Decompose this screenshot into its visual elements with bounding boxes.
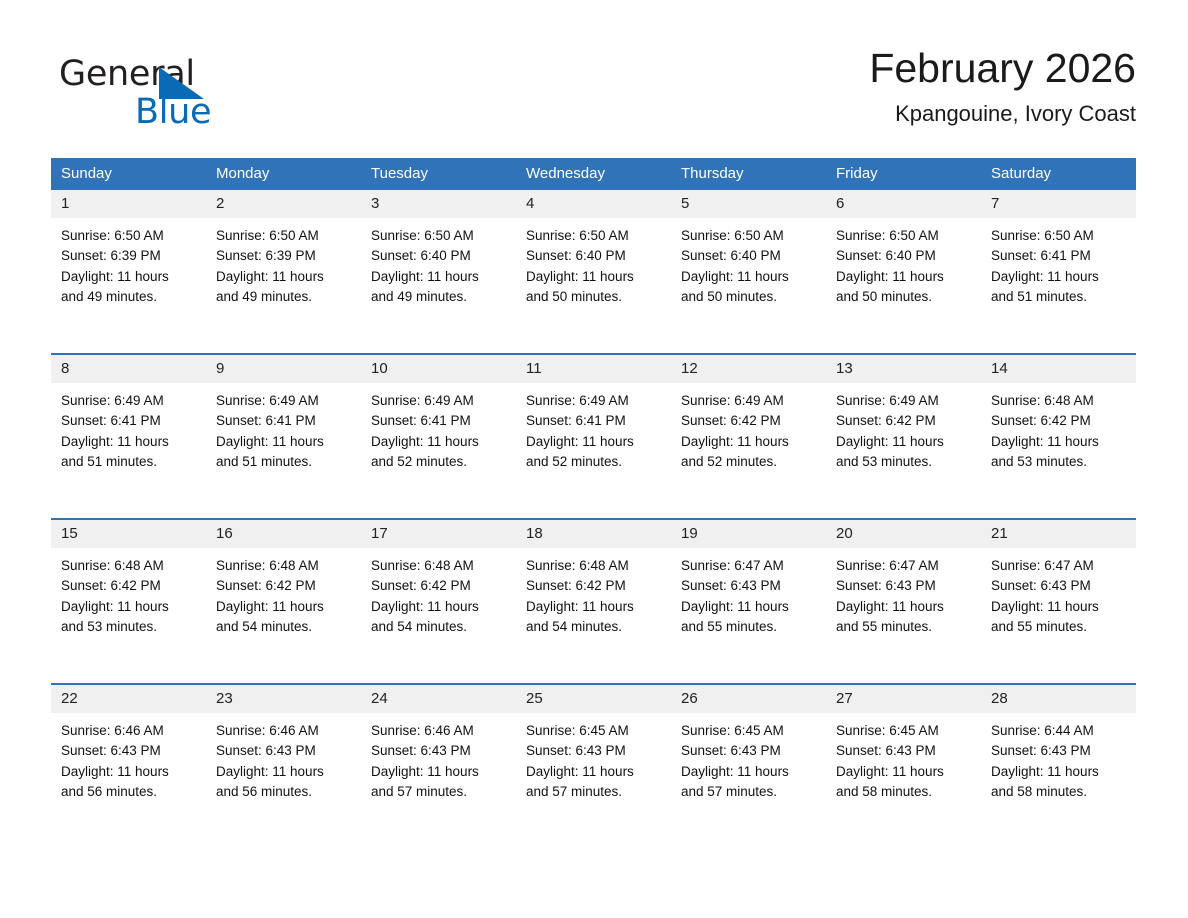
calendar-week-2: 8 9 10 11 12 13 14 Sunrise: 6:49 AM Suns…	[51, 354, 1136, 519]
daylight-text-line1: Daylight: 11 hours	[216, 267, 349, 287]
day-cell[interactable]: Sunrise: 6:49 AM Sunset: 6:42 PM Dayligh…	[671, 383, 826, 519]
daylight-text-line2: and 51 minutes.	[991, 287, 1124, 307]
sunrise-text: Sunrise: 6:50 AM	[371, 226, 504, 246]
daylight-text-line2: and 58 minutes.	[991, 782, 1124, 802]
day-number[interactable]: 17	[361, 519, 516, 548]
daylight-text-line1: Daylight: 11 hours	[371, 762, 504, 782]
sunset-text: Sunset: 6:42 PM	[991, 411, 1124, 431]
daylight-text-line1: Daylight: 11 hours	[991, 267, 1124, 287]
daylight-text-line2: and 49 minutes.	[371, 287, 504, 307]
sunset-text: Sunset: 6:43 PM	[681, 741, 814, 761]
page-header: General Blue February 2026 Kpangouine, I…	[51, 42, 1136, 146]
daylight-text-line2: and 57 minutes.	[371, 782, 504, 802]
daylight-text-line1: Daylight: 11 hours	[371, 432, 504, 452]
sunrise-text: Sunrise: 6:47 AM	[991, 556, 1124, 576]
day-number[interactable]: 8	[51, 354, 206, 383]
daylight-text-line2: and 57 minutes.	[526, 782, 659, 802]
day-number[interactable]: 24	[361, 684, 516, 713]
weekday-header-sunday: Sunday	[51, 158, 206, 190]
daylight-text-line2: and 54 minutes.	[526, 617, 659, 637]
sunset-text: Sunset: 6:42 PM	[216, 576, 349, 596]
daylight-text-line2: and 55 minutes.	[681, 617, 814, 637]
sunset-text: Sunset: 6:43 PM	[61, 741, 194, 761]
sunset-text: Sunset: 6:41 PM	[991, 246, 1124, 266]
sunset-text: Sunset: 6:39 PM	[61, 246, 194, 266]
daylight-text-line1: Daylight: 11 hours	[216, 762, 349, 782]
day-cell[interactable]: Sunrise: 6:50 AM Sunset: 6:39 PM Dayligh…	[206, 218, 361, 354]
sunset-text: Sunset: 6:43 PM	[836, 741, 969, 761]
day-number[interactable]: 23	[206, 684, 361, 713]
calendar-header-row: Sunday Monday Tuesday Wednesday Thursday…	[51, 158, 1136, 190]
day-cell[interactable]: Sunrise: 6:50 AM Sunset: 6:40 PM Dayligh…	[361, 218, 516, 354]
sunset-text: Sunset: 6:43 PM	[991, 741, 1124, 761]
daylight-text-line2: and 54 minutes.	[216, 617, 349, 637]
day-cell[interactable]: Sunrise: 6:49 AM Sunset: 6:41 PM Dayligh…	[361, 383, 516, 519]
daylight-text-line2: and 50 minutes.	[836, 287, 969, 307]
day-number[interactable]: 14	[981, 354, 1136, 383]
day-cell[interactable]: Sunrise: 6:49 AM Sunset: 6:41 PM Dayligh…	[51, 383, 206, 519]
day-cell[interactable]: Sunrise: 6:48 AM Sunset: 6:42 PM Dayligh…	[516, 548, 671, 684]
daylight-text-line2: and 55 minutes.	[991, 617, 1124, 637]
sunset-text: Sunset: 6:42 PM	[681, 411, 814, 431]
sunset-text: Sunset: 6:41 PM	[371, 411, 504, 431]
day-cell[interactable]: Sunrise: 6:46 AM Sunset: 6:43 PM Dayligh…	[206, 713, 361, 848]
day-cell[interactable]: Sunrise: 6:49 AM Sunset: 6:42 PM Dayligh…	[826, 383, 981, 519]
calendar-week-3: 15 16 17 18 19 20 21 Sunrise: 6:48 AM Su…	[51, 519, 1136, 684]
day-number[interactable]: 2	[206, 190, 361, 218]
daylight-text-line2: and 52 minutes.	[526, 452, 659, 472]
day-cell[interactable]: Sunrise: 6:45 AM Sunset: 6:43 PM Dayligh…	[826, 713, 981, 848]
daylight-text-line2: and 50 minutes.	[526, 287, 659, 307]
sunset-text: Sunset: 6:43 PM	[526, 741, 659, 761]
sunrise-text: Sunrise: 6:48 AM	[526, 556, 659, 576]
day-number[interactable]: 21	[981, 519, 1136, 548]
sunrise-text: Sunrise: 6:45 AM	[681, 721, 814, 741]
day-number[interactable]: 4	[516, 190, 671, 218]
daylight-text-line1: Daylight: 11 hours	[371, 267, 504, 287]
day-number[interactable]: 16	[206, 519, 361, 548]
daylight-text-line1: Daylight: 11 hours	[836, 432, 969, 452]
daylight-text-line2: and 58 minutes.	[836, 782, 969, 802]
daylight-text-line1: Daylight: 11 hours	[836, 597, 969, 617]
daylight-text-line1: Daylight: 11 hours	[61, 762, 194, 782]
day-number[interactable]: 1	[51, 190, 206, 218]
day-cell[interactable]: Sunrise: 6:47 AM Sunset: 6:43 PM Dayligh…	[826, 548, 981, 684]
sunrise-text: Sunrise: 6:47 AM	[836, 556, 969, 576]
sunrise-text: Sunrise: 6:49 AM	[836, 391, 969, 411]
page-title: February 2026	[869, 42, 1136, 94]
weekday-header-friday: Friday	[826, 158, 981, 190]
sunrise-text: Sunrise: 6:50 AM	[526, 226, 659, 246]
daylight-text-line2: and 51 minutes.	[216, 452, 349, 472]
sunset-text: Sunset: 6:41 PM	[216, 411, 349, 431]
day-number[interactable]: 19	[671, 519, 826, 548]
week-4-daynumbers: 22 23 24 25 26 27 28	[51, 684, 1136, 713]
sunrise-text: Sunrise: 6:48 AM	[371, 556, 504, 576]
day-cell[interactable]: Sunrise: 6:47 AM Sunset: 6:43 PM Dayligh…	[671, 548, 826, 684]
daylight-text-line1: Daylight: 11 hours	[61, 432, 194, 452]
sunrise-text: Sunrise: 6:45 AM	[836, 721, 969, 741]
daylight-text-line1: Daylight: 11 hours	[991, 432, 1124, 452]
calendar-week-1: 1 2 3 4 5 6 7 Sunrise: 6:50 AM Sunset: 6…	[51, 190, 1136, 354]
daylight-text-line1: Daylight: 11 hours	[991, 762, 1124, 782]
general-blue-logo[interactable]: General Blue	[59, 54, 319, 140]
daylight-text-line1: Daylight: 11 hours	[61, 267, 194, 287]
sunrise-text: Sunrise: 6:49 AM	[371, 391, 504, 411]
day-number[interactable]: 25	[516, 684, 671, 713]
daylight-text-line1: Daylight: 11 hours	[681, 762, 814, 782]
day-cell[interactable]: Sunrise: 6:46 AM Sunset: 6:43 PM Dayligh…	[51, 713, 206, 848]
sunrise-text: Sunrise: 6:48 AM	[991, 391, 1124, 411]
day-cell[interactable]: Sunrise: 6:50 AM Sunset: 6:40 PM Dayligh…	[671, 218, 826, 354]
day-cell[interactable]: Sunrise: 6:50 AM Sunset: 6:41 PM Dayligh…	[981, 218, 1136, 354]
day-number[interactable]: 20	[826, 519, 981, 548]
sunset-text: Sunset: 6:39 PM	[216, 246, 349, 266]
day-number[interactable]: 18	[516, 519, 671, 548]
calendar-table: Sunday Monday Tuesday Wednesday Thursday…	[51, 158, 1136, 848]
daylight-text-line2: and 56 minutes.	[61, 782, 194, 802]
daylight-text-line1: Daylight: 11 hours	[526, 432, 659, 452]
sunrise-text: Sunrise: 6:48 AM	[216, 556, 349, 576]
daylight-text-line1: Daylight: 11 hours	[836, 762, 969, 782]
week-3-details: Sunrise: 6:48 AM Sunset: 6:42 PM Dayligh…	[51, 548, 1136, 684]
day-number[interactable]: 7	[981, 190, 1136, 218]
sunrise-text: Sunrise: 6:49 AM	[526, 391, 659, 411]
daylight-text-line2: and 55 minutes.	[836, 617, 969, 637]
sunset-text: Sunset: 6:42 PM	[371, 576, 504, 596]
daylight-text-line2: and 51 minutes.	[61, 452, 194, 472]
day-cell[interactable]: Sunrise: 6:45 AM Sunset: 6:43 PM Dayligh…	[516, 713, 671, 848]
daylight-text-line2: and 53 minutes.	[836, 452, 969, 472]
title-block: February 2026 Kpangouine, Ivory Coast	[869, 42, 1136, 128]
logo-text-blue: Blue	[135, 92, 211, 132]
daylight-text-line2: and 53 minutes.	[61, 617, 194, 637]
sunrise-text: Sunrise: 6:50 AM	[681, 226, 814, 246]
day-cell[interactable]: Sunrise: 6:48 AM Sunset: 6:42 PM Dayligh…	[361, 548, 516, 684]
daylight-text-line2: and 52 minutes.	[681, 452, 814, 472]
sunrise-text: Sunrise: 6:45 AM	[526, 721, 659, 741]
daylight-text-line1: Daylight: 11 hours	[216, 432, 349, 452]
week-3-daynumbers: 15 16 17 18 19 20 21	[51, 519, 1136, 548]
week-1-details: Sunrise: 6:50 AM Sunset: 6:39 PM Dayligh…	[51, 218, 1136, 354]
daylight-text-line1: Daylight: 11 hours	[526, 597, 659, 617]
daylight-text-line1: Daylight: 11 hours	[836, 267, 969, 287]
daylight-text-line2: and 52 minutes.	[371, 452, 504, 472]
daylight-text-line1: Daylight: 11 hours	[681, 597, 814, 617]
sunrise-text: Sunrise: 6:46 AM	[61, 721, 194, 741]
sunrise-text: Sunrise: 6:50 AM	[61, 226, 194, 246]
day-cell[interactable]: Sunrise: 6:49 AM Sunset: 6:41 PM Dayligh…	[516, 383, 671, 519]
day-cell[interactable]: Sunrise: 6:47 AM Sunset: 6:43 PM Dayligh…	[981, 548, 1136, 684]
day-number[interactable]: 12	[671, 354, 826, 383]
daylight-text-line2: and 56 minutes.	[216, 782, 349, 802]
daylight-text-line2: and 54 minutes.	[371, 617, 504, 637]
daylight-text-line1: Daylight: 11 hours	[371, 597, 504, 617]
sunrise-text: Sunrise: 6:50 AM	[836, 226, 969, 246]
day-number[interactable]: 27	[826, 684, 981, 713]
daylight-text-line2: and 53 minutes.	[991, 452, 1124, 472]
day-cell[interactable]: Sunrise: 6:48 AM Sunset: 6:42 PM Dayligh…	[981, 383, 1136, 519]
weekday-header-wednesday: Wednesday	[516, 158, 671, 190]
sunset-text: Sunset: 6:41 PM	[61, 411, 194, 431]
day-number[interactable]: 10	[361, 354, 516, 383]
daylight-text-line1: Daylight: 11 hours	[526, 267, 659, 287]
sunset-text: Sunset: 6:43 PM	[681, 576, 814, 596]
daylight-text-line1: Daylight: 11 hours	[991, 597, 1124, 617]
day-number[interactable]: 9	[206, 354, 361, 383]
day-number[interactable]: 11	[516, 354, 671, 383]
daylight-text-line1: Daylight: 11 hours	[61, 597, 194, 617]
daylight-text-line2: and 50 minutes.	[681, 287, 814, 307]
day-cell[interactable]: Sunrise: 6:50 AM Sunset: 6:39 PM Dayligh…	[51, 218, 206, 354]
weekday-header-saturday: Saturday	[981, 158, 1136, 190]
sunrise-text: Sunrise: 6:46 AM	[216, 721, 349, 741]
day-cell[interactable]: Sunrise: 6:48 AM Sunset: 6:42 PM Dayligh…	[51, 548, 206, 684]
daylight-text-line2: and 49 minutes.	[216, 287, 349, 307]
week-2-details: Sunrise: 6:49 AM Sunset: 6:41 PM Dayligh…	[51, 383, 1136, 519]
daylight-text-line1: Daylight: 11 hours	[526, 762, 659, 782]
week-1-daynumbers: 1 2 3 4 5 6 7	[51, 190, 1136, 218]
sunset-text: Sunset: 6:42 PM	[526, 576, 659, 596]
week-2-daynumbers: 8 9 10 11 12 13 14	[51, 354, 1136, 383]
day-cell[interactable]: Sunrise: 6:48 AM Sunset: 6:42 PM Dayligh…	[206, 548, 361, 684]
sunrise-text: Sunrise: 6:47 AM	[681, 556, 814, 576]
sunset-text: Sunset: 6:43 PM	[836, 576, 969, 596]
sunset-text: Sunset: 6:40 PM	[371, 246, 504, 266]
day-cell[interactable]: Sunrise: 6:45 AM Sunset: 6:43 PM Dayligh…	[671, 713, 826, 848]
daylight-text-line2: and 57 minutes.	[681, 782, 814, 802]
sunrise-text: Sunrise: 6:49 AM	[681, 391, 814, 411]
daylight-text-line1: Daylight: 11 hours	[216, 597, 349, 617]
day-number[interactable]: 5	[671, 190, 826, 218]
daylight-text-line1: Daylight: 11 hours	[681, 432, 814, 452]
day-cell[interactable]: Sunrise: 6:44 AM Sunset: 6:43 PM Dayligh…	[981, 713, 1136, 848]
day-number[interactable]: 26	[671, 684, 826, 713]
weekday-header-thursday: Thursday	[671, 158, 826, 190]
day-cell[interactable]: Sunrise: 6:49 AM Sunset: 6:41 PM Dayligh…	[206, 383, 361, 519]
day-number[interactable]: 13	[826, 354, 981, 383]
sunrise-text: Sunrise: 6:49 AM	[61, 391, 194, 411]
sunset-text: Sunset: 6:41 PM	[526, 411, 659, 431]
day-cell[interactable]: Sunrise: 6:46 AM Sunset: 6:43 PM Dayligh…	[361, 713, 516, 848]
sunrise-text: Sunrise: 6:49 AM	[216, 391, 349, 411]
calendar-page: General Blue February 2026 Kpangouine, I…	[0, 0, 1188, 918]
day-number[interactable]: 15	[51, 519, 206, 548]
sunset-text: Sunset: 6:43 PM	[991, 576, 1124, 596]
sunrise-text: Sunrise: 6:46 AM	[371, 721, 504, 741]
day-number[interactable]: 6	[826, 190, 981, 218]
sunrise-text: Sunrise: 6:48 AM	[61, 556, 194, 576]
daylight-text-line2: and 49 minutes.	[61, 287, 194, 307]
day-number[interactable]: 22	[51, 684, 206, 713]
day-number[interactable]: 28	[981, 684, 1136, 713]
weekday-header-tuesday: Tuesday	[361, 158, 516, 190]
sunrise-text: Sunrise: 6:44 AM	[991, 721, 1124, 741]
daylight-text-line1: Daylight: 11 hours	[681, 267, 814, 287]
week-4-details: Sunrise: 6:46 AM Sunset: 6:43 PM Dayligh…	[51, 713, 1136, 848]
weekday-header-monday: Monday	[206, 158, 361, 190]
sunset-text: Sunset: 6:40 PM	[526, 246, 659, 266]
day-number[interactable]: 3	[361, 190, 516, 218]
sunset-text: Sunset: 6:42 PM	[836, 411, 969, 431]
sunrise-text: Sunrise: 6:50 AM	[991, 226, 1124, 246]
sunset-text: Sunset: 6:40 PM	[681, 246, 814, 266]
sunset-text: Sunset: 6:43 PM	[371, 741, 504, 761]
sunrise-text: Sunrise: 6:50 AM	[216, 226, 349, 246]
day-cell[interactable]: Sunrise: 6:50 AM Sunset: 6:40 PM Dayligh…	[826, 218, 981, 354]
sunset-text: Sunset: 6:43 PM	[216, 741, 349, 761]
sunset-text: Sunset: 6:40 PM	[836, 246, 969, 266]
day-cell[interactable]: Sunrise: 6:50 AM Sunset: 6:40 PM Dayligh…	[516, 218, 671, 354]
page-subtitle: Kpangouine, Ivory Coast	[869, 100, 1136, 128]
sunset-text: Sunset: 6:42 PM	[61, 576, 194, 596]
calendar-week-4: 22 23 24 25 26 27 28 Sunrise: 6:46 AM Su…	[51, 684, 1136, 848]
